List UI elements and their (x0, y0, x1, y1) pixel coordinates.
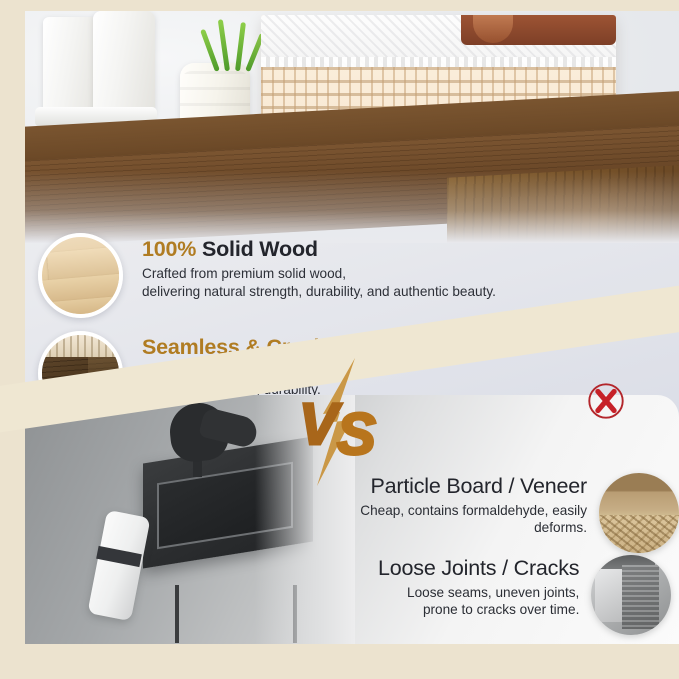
svg-text:S: S (337, 402, 376, 467)
svg-text:V: V (299, 392, 342, 457)
feature-1-desc-line2: delivering natural strength, durability,… (142, 283, 496, 301)
bad-feature-2-desc-line2: prone to cracks over time. (378, 601, 579, 619)
feature-1-title: 100% Solid Wood (142, 237, 496, 261)
grayscale-leg-left (175, 585, 179, 643)
infographic-root: 100% Solid Wood Crafted from premium sol… (0, 0, 679, 679)
feature-solid-wood: 100% Solid Wood Crafted from premium sol… (38, 233, 496, 318)
x-circle-icon (585, 380, 627, 422)
white-vase-2 (93, 11, 155, 121)
feature-1-desc-line1: Crafted from premium solid wood, (142, 265, 496, 283)
bad-feature-loose-joints: Loose Joints / Cracks Loose seams, uneve… (378, 555, 671, 635)
feature-1-title-accent: 100% (142, 237, 196, 261)
green-plant-icon (211, 19, 259, 71)
loose-joint-shelf-thumbnail (591, 555, 671, 635)
hero-product-photo (25, 11, 679, 243)
bad-feature-2-title: Loose Joints / Cracks (378, 557, 579, 581)
solid-wood-planks-thumbnail (38, 233, 123, 318)
versus-emblem: V S (293, 358, 399, 486)
bad-feature-2-desc-line1: Loose seams, uneven joints, (378, 584, 579, 602)
feature-1-title-rest: Solid Wood (196, 237, 318, 261)
particle-board-cross-section-thumbnail (599, 473, 679, 553)
bad-feature-particle-board: Particle Board / Veneer Cheap, contains … (355, 473, 679, 553)
bad-feature-1-desc: Cheap, contains formaldehyde, easily def… (355, 502, 587, 537)
